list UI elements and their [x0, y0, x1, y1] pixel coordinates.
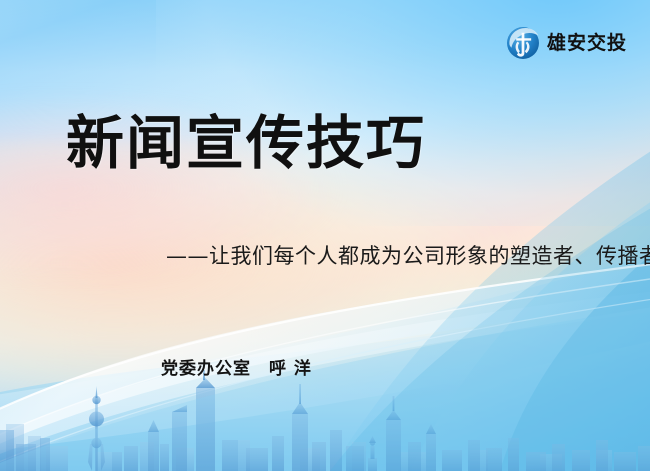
slide-title: 新闻宣传技巧: [66, 110, 426, 177]
slide-subtitle: ——让我们每个人都成为公司形象的塑造者、传播者: [166, 240, 650, 270]
brand-logo: 雄安交投: [506, 26, 627, 60]
brand-name: 雄安交投: [547, 34, 627, 53]
background-artwork: [0, 0, 650, 471]
xiongan-jiaotou-circle-logo-icon: [506, 26, 540, 60]
presentation-slide: 雄安交投 新闻宣传技巧 ——让我们每个人都成为公司形象的塑造者、传播者 党委办公…: [0, 0, 650, 471]
presenter-line: 党委办公室 呼 洋: [161, 354, 312, 379]
